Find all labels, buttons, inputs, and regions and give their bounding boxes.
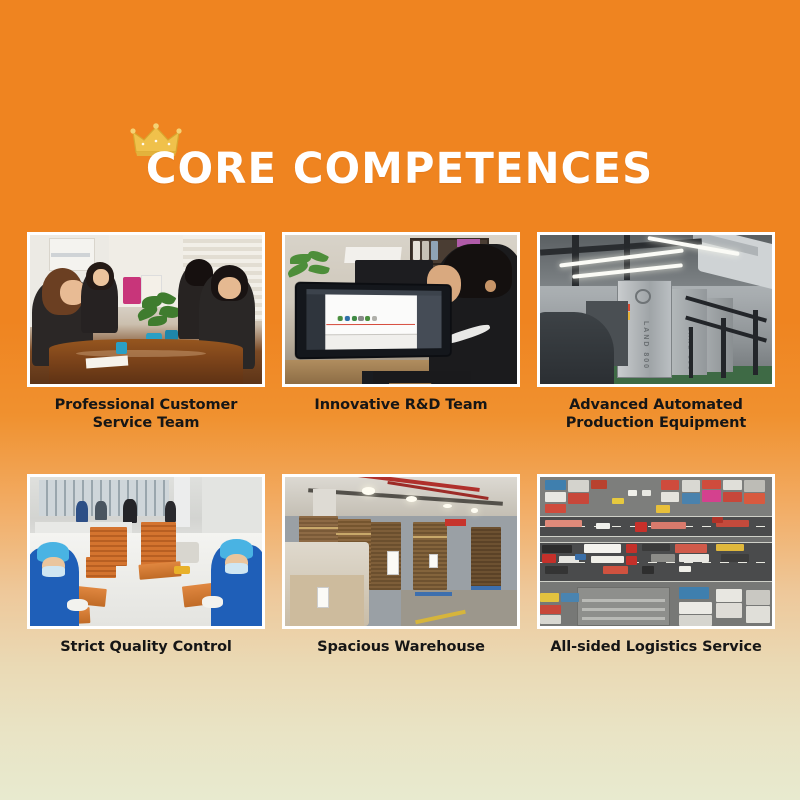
card-all-sided-logistics-service[interactable]: All-sided Logistics Service (537, 474, 775, 656)
page-header: CORE COMPETENCES (0, 148, 800, 191)
caption-line-2: Production Equipment (537, 414, 775, 432)
photo-quality-control (30, 477, 262, 626)
caption-line-1: Strict Quality Control (27, 638, 265, 656)
caption-line-1: All-sided Logistics Service (537, 638, 775, 656)
card-caption: All-sided Logistics Service (537, 629, 775, 656)
photo-meeting-room (30, 235, 262, 384)
photo-frame (282, 474, 520, 629)
caption-line-1: Professional Customer (27, 396, 265, 414)
card-innovative-rd-team[interactable]: Innovative R&D Team (282, 232, 520, 433)
caption-line-1: Innovative R&D Team (282, 396, 520, 414)
photo-frame (282, 232, 520, 387)
photo-logistics-port (540, 477, 772, 626)
photo-warehouse (285, 477, 517, 626)
card-caption: Strict Quality Control (27, 629, 265, 656)
competences-grid: Professional Customer Service Team (27, 232, 773, 656)
photo-frame: LAND 800 LAND 800 (537, 232, 775, 387)
caption-line-2: Service Team (27, 414, 265, 432)
card-advanced-automated-production-equipment[interactable]: LAND 800 LAND 800 Advanced Automated Pro… (537, 232, 775, 433)
card-strict-quality-control[interactable]: Strict Quality Control (27, 474, 265, 656)
card-professional-customer-service-team[interactable]: Professional Customer Service Team (27, 232, 265, 433)
card-caption: Innovative R&D Team (282, 387, 520, 414)
page-title: CORE COMPETENCES (146, 148, 653, 191)
card-caption: Professional Customer Service Team (27, 387, 265, 433)
photo-frame (537, 474, 775, 629)
photo-frame (27, 474, 265, 629)
photo-rd-designer (285, 235, 517, 384)
caption-line-1: Advanced Automated (537, 396, 775, 414)
card-caption: Advanced Automated Production Equipment (537, 387, 775, 433)
card-spacious-warehouse[interactable]: Spacious Warehouse (282, 474, 520, 656)
card-caption: Spacious Warehouse (282, 629, 520, 656)
press-label-1: LAND 800 (642, 321, 649, 370)
photo-printing-press: LAND 800 LAND 800 (540, 235, 772, 384)
caption-line-1: Spacious Warehouse (282, 638, 520, 656)
photo-frame (27, 232, 265, 387)
